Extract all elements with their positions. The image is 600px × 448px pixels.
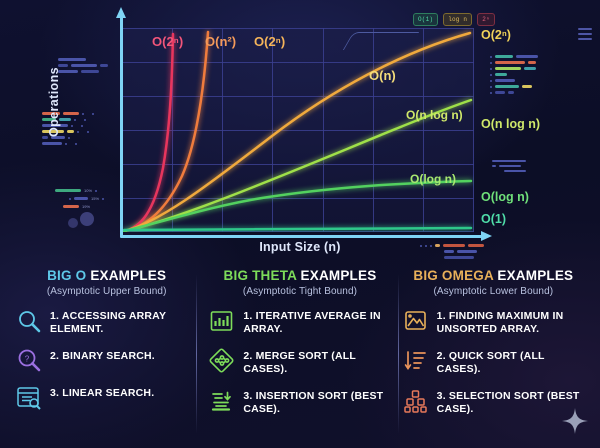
curve-label-logn: O(log n) xyxy=(410,172,456,186)
magnifier-question-icon: ? xyxy=(16,348,42,374)
column-subtitle-big-theta: (Asymptotic Tight Bound) xyxy=(209,286,390,297)
examples-section: BIG O EXAMPLES (Asymptotic Upper Bound) … xyxy=(0,262,600,448)
list-item[interactable]: 2. QUICK SORT (ALL CASES). xyxy=(403,348,584,377)
decoration-circle-small xyxy=(68,218,78,228)
list-item-text: 3. LINEAR SEARCH. xyxy=(50,385,154,400)
list-item-text: 1. ACCESSING ARRAY ELEMENT. xyxy=(50,308,197,337)
list-item-text: 1. FINDING MAXIMUM IN UNSORTED ARRAY. xyxy=(437,308,584,337)
legend-badge-2n[interactable]: 2ⁿ xyxy=(477,13,495,26)
column-title-big-o: BIG O EXAMPLES xyxy=(16,268,197,283)
right-label-nlogn: O(n log n) xyxy=(481,117,540,131)
pyramid-blocks-icon xyxy=(403,388,429,414)
decoration-bars-top-left xyxy=(58,58,108,76)
decoration-bars-bottom xyxy=(420,244,484,262)
list-item[interactable]: 1. FINDING MAXIMUM IN UNSORTED ARRAY. xyxy=(403,308,584,337)
legend-badge-logn[interactable]: log n xyxy=(443,13,472,26)
legend-leader-line xyxy=(343,32,419,50)
list-item[interactable]: 2. MERGE SORT (ALL CASES). xyxy=(209,348,390,377)
column-title-big-omega: BIG OMEGA EXAMPLES xyxy=(403,268,584,283)
column-title-big-theta: BIG THETA EXAMPLES xyxy=(209,268,390,283)
list-item[interactable]: ? 2. BINARY SEARCH. xyxy=(16,348,197,374)
menu-icon-decoration xyxy=(578,28,592,43)
curve-label-2n: O(2ⁿ) xyxy=(254,34,285,49)
column-title-rest: EXAMPLES xyxy=(297,268,377,283)
right-label-1: O(1) xyxy=(481,212,506,226)
document-search-icon xyxy=(16,385,42,411)
list-item-text: 3. INSERTION SORT (BEST CASE). xyxy=(243,388,390,417)
sort-stack-icon xyxy=(209,388,235,414)
list-item[interactable]: 1. ITERATIVE AVERAGE IN ARRAY. xyxy=(209,308,390,337)
column-subtitle-big-o: (Asymptotic Upper Bound) xyxy=(16,286,197,297)
column-big-o: BIG O EXAMPLES (Asymptotic Upper Bound) … xyxy=(10,268,203,448)
curve-label-n2: O(n²) xyxy=(205,34,236,49)
list-item[interactable]: 3. INSERTION SORT (BEST CASE). xyxy=(209,388,390,417)
list-item-text: 2. BINARY SEARCH. xyxy=(50,348,155,363)
complexity-chart: 10% 15% 19% xyxy=(0,0,600,262)
column-title-emphasis: BIG OMEGA xyxy=(413,268,493,283)
list-item[interactable]: 3. SELECTION SORT (BEST CASE). xyxy=(403,388,584,417)
bar-chart-icon xyxy=(209,308,235,334)
column-title-rest: EXAMPLES xyxy=(86,268,166,283)
y-axis-label: Operations xyxy=(47,42,61,162)
peak-image-icon xyxy=(403,308,429,334)
column-title-emphasis: BIG O xyxy=(47,268,86,283)
x-axis xyxy=(120,235,483,238)
column-big-omega: BIG OMEGA EXAMPLES (Asymptotic Lower Bou… xyxy=(397,268,590,448)
legend-badge-o1[interactable]: O(1) xyxy=(413,13,438,26)
curve-label-2n-red: O(2ⁿ) xyxy=(152,34,183,49)
list-item[interactable]: 3. LINEAR SEARCH. xyxy=(16,385,197,411)
y-axis xyxy=(120,16,123,238)
right-label-logn: O(log n) xyxy=(481,190,529,204)
curve-lines xyxy=(122,28,474,232)
svg-text:?: ? xyxy=(25,354,30,363)
column-title-rest: EXAMPLES xyxy=(493,268,573,283)
curve-label-nlogn: O(n log n) xyxy=(406,108,463,122)
sort-descending-icon xyxy=(403,348,429,374)
list-item-text: 2. QUICK SORT (ALL CASES). xyxy=(437,348,584,377)
list-item-text: 2. MERGE SORT (ALL CASES). xyxy=(243,348,390,377)
decoration-lines-right xyxy=(492,160,526,175)
right-label-2n: O(2ⁿ) xyxy=(481,28,511,42)
list-item-text: 1. ITERATIVE AVERAGE IN ARRAY. xyxy=(243,308,390,337)
x-axis-label: Input Size (n) xyxy=(200,240,400,254)
decoration-bars-right xyxy=(490,55,538,97)
curve-label-n: O(n) xyxy=(369,68,396,83)
column-title-emphasis: BIG THETA xyxy=(224,268,297,283)
decoration-stats-left: 10% 15% 19% xyxy=(55,188,104,212)
chart-legend: O(1) log n 2ⁿ xyxy=(413,13,495,26)
sparkle-icon xyxy=(562,408,588,434)
merge-nodes-icon xyxy=(209,348,235,374)
decoration-circle-large xyxy=(80,212,94,226)
column-big-theta: BIG THETA EXAMPLES (Asymptotic Tight Bou… xyxy=(203,268,396,448)
list-item[interactable]: 1. ACCESSING ARRAY ELEMENT. xyxy=(16,308,197,337)
column-subtitle-big-omega: (Asymptotic Lower Bound) xyxy=(403,286,584,297)
magnifier-icon xyxy=(16,308,42,334)
